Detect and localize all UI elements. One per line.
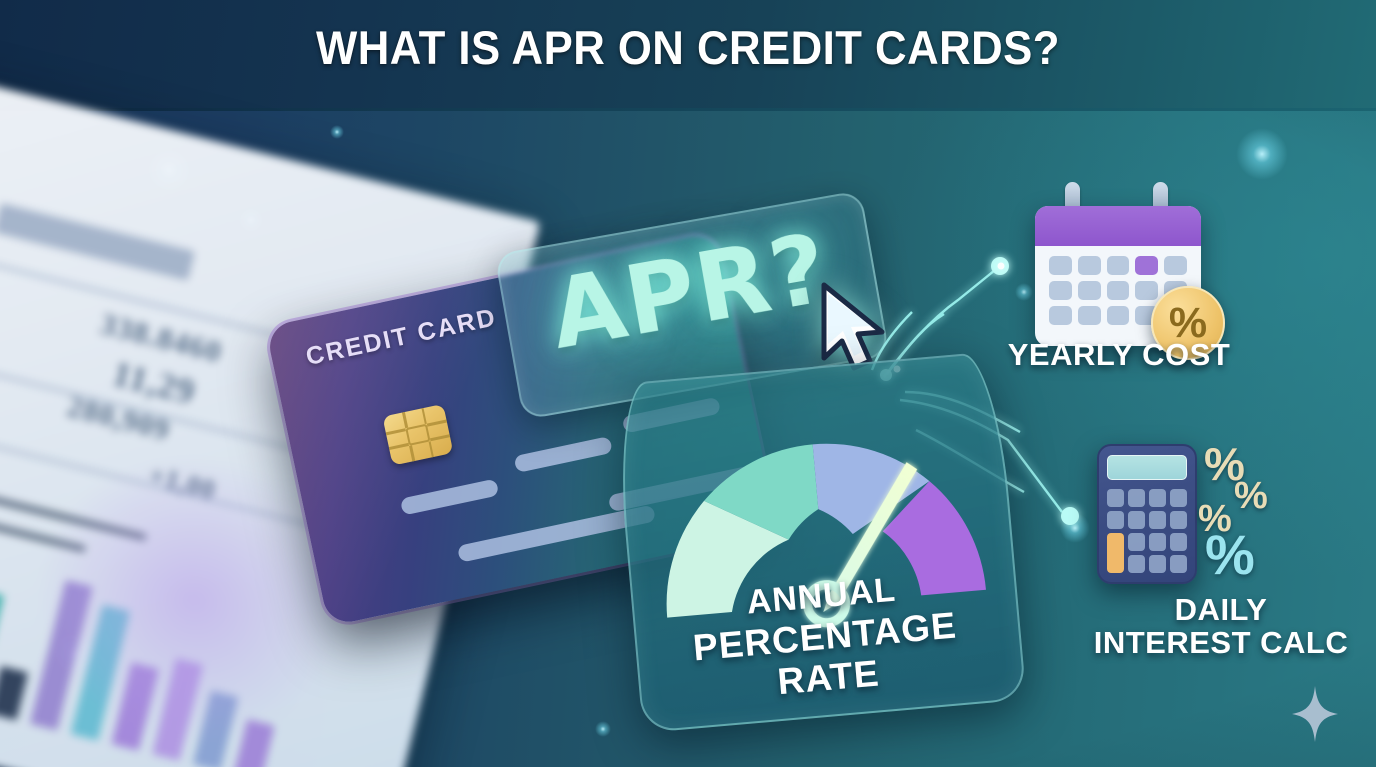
calculator-key	[1149, 511, 1166, 529]
calculator-key	[1149, 533, 1166, 551]
calculator-display	[1107, 455, 1187, 480]
calendar-cell	[1107, 306, 1130, 325]
glow-particle	[1060, 513, 1090, 543]
calendar-cell	[1107, 256, 1130, 275]
glow-particle	[330, 125, 344, 139]
calculator-key	[1170, 555, 1187, 573]
calendar-header-bar	[1035, 206, 1201, 246]
calculator-key	[1149, 555, 1166, 573]
yearly-cost-label: YEARLY COST	[974, 337, 1264, 373]
calculator-keypad	[1107, 489, 1187, 573]
calendar-cell	[1049, 281, 1072, 300]
page-title: WHAT IS APR ON CREDIT CARDS?	[48, 20, 1328, 75]
calculator-key	[1170, 533, 1187, 551]
calendar-cell	[1107, 281, 1130, 300]
calendar-cell	[1078, 306, 1101, 325]
percent-symbol-icon: %	[1234, 477, 1268, 515]
header-banner: WHAT IS APR ON CREDIT CARDS?	[0, 0, 1376, 111]
glow-particle	[1236, 128, 1288, 180]
calendar-cell	[1078, 256, 1101, 275]
calculator-key	[1107, 511, 1124, 529]
calendar-cell	[1049, 306, 1072, 325]
glow-particle	[1015, 283, 1033, 301]
calendar-cell	[1164, 256, 1187, 275]
calendar-cell	[1135, 281, 1158, 300]
calculator-key	[1170, 511, 1187, 529]
calculator-key	[1128, 489, 1145, 507]
four-point-star-icon	[1292, 686, 1338, 742]
statement-header-block	[0, 203, 195, 280]
calculator-key	[1128, 555, 1145, 573]
calculator-key-equals	[1107, 533, 1124, 573]
calculator-key	[1128, 511, 1145, 529]
calculator-key	[1107, 489, 1124, 507]
calculator-key	[1149, 489, 1166, 507]
calculator-key	[1128, 533, 1145, 551]
calendar-icon[interactable]: %	[1035, 196, 1201, 346]
percent-symbol-icon: %	[1205, 527, 1255, 583]
calendar-cell	[1078, 281, 1101, 300]
daily-interest-line1: DAILY	[1175, 592, 1268, 627]
glow-particle	[595, 721, 611, 737]
daily-interest-label: DAILY INTEREST CALC	[1066, 593, 1376, 660]
daily-interest-line2: INTEREST CALC	[1066, 626, 1376, 659]
infographic-canvas: WHAT IS APR ON CREDIT CARDS? 338.8460 11…	[0, 0, 1376, 767]
calendar-cell	[1049, 256, 1072, 275]
calculator-icon[interactable]	[1097, 444, 1197, 584]
calendar-cell-highlight	[1135, 256, 1158, 275]
calculator-key	[1170, 489, 1187, 507]
